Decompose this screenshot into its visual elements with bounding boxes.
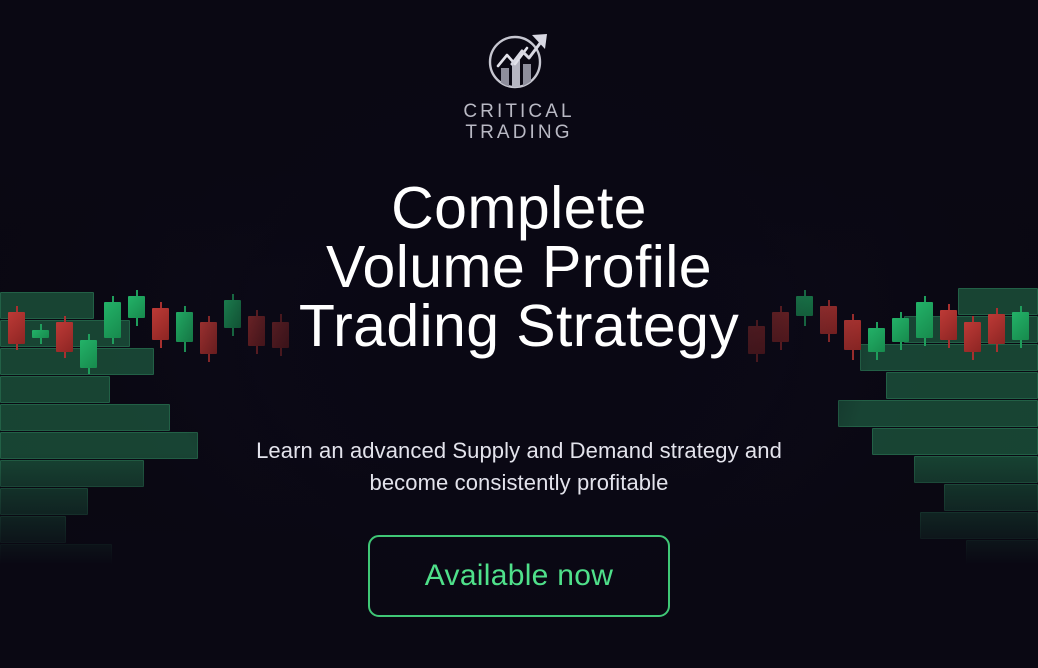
hero-content: CRITICAL TRADING Complete Volume Profile…: [0, 0, 1038, 668]
headline-line-3: Trading Strategy: [299, 297, 739, 356]
page-subtitle: Learn an advanced Supply and Demand stra…: [256, 435, 782, 499]
subtitle-line-1: Learn an advanced Supply and Demand stra…: [256, 435, 782, 467]
brand-line-1: CRITICAL: [463, 101, 574, 122]
brand-line-2: TRADING: [463, 122, 574, 143]
brand-name: CRITICAL TRADING: [463, 101, 574, 143]
page-title: Complete Volume Profile Trading Strategy: [299, 179, 739, 356]
headline-line-1: Complete: [299, 179, 739, 238]
hero-banner: CRITICAL TRADING Complete Volume Profile…: [0, 0, 1038, 668]
headline-line-2: Volume Profile: [299, 238, 739, 297]
available-now-button[interactable]: Available now: [368, 535, 670, 617]
brand-logo: CRITICAL TRADING: [463, 26, 574, 143]
subtitle-line-2: become consistently profitable: [256, 467, 782, 499]
chart-arrow-up-icon: [482, 26, 556, 96]
